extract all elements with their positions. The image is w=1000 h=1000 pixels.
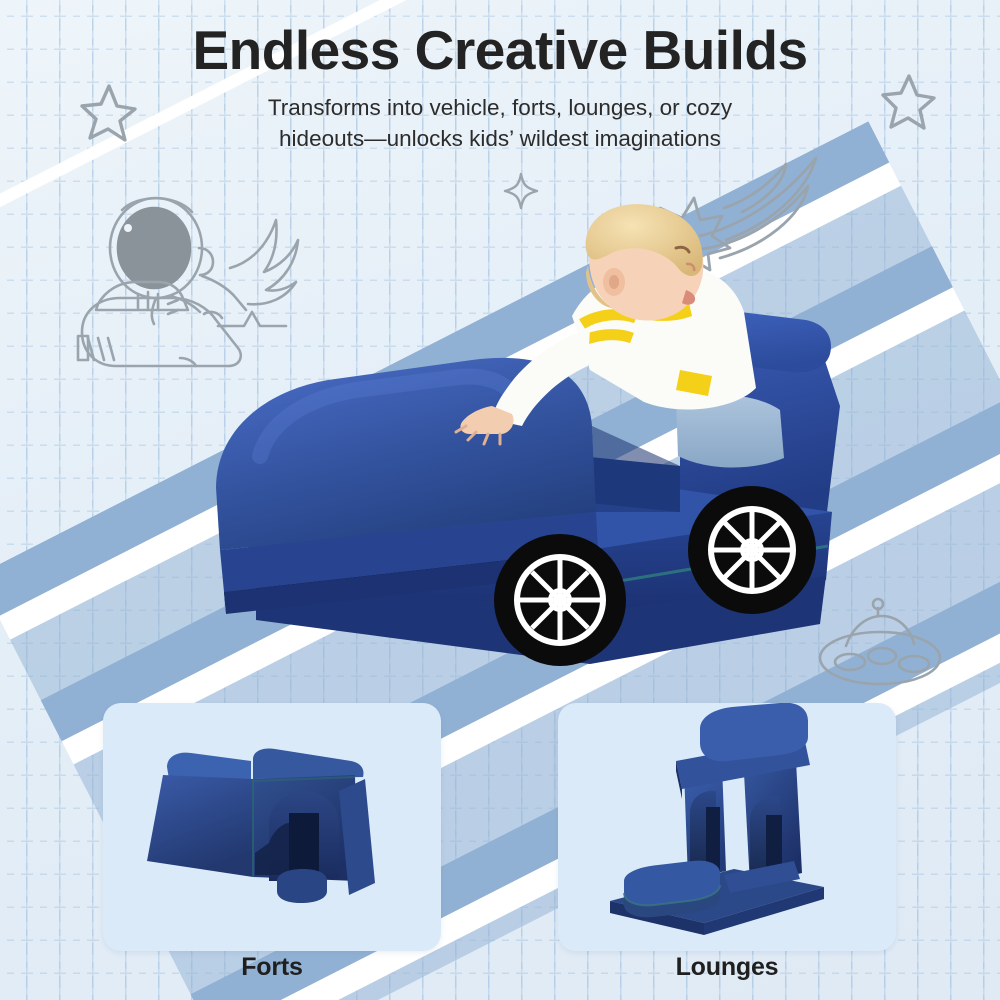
promo-image-root: Endless Creative Builds Transforms into … (0, 0, 1000, 1000)
hero-product-image (120, 220, 880, 690)
card-label-lounges: Lounges (558, 953, 896, 982)
wheel-front (688, 486, 816, 614)
card-lounges[interactable] (558, 703, 896, 951)
subtitle-line-2: hideouts—unlocks kids’ wildest imaginati… (279, 126, 721, 151)
card-label-forts: Forts (103, 953, 441, 982)
card-forts[interactable] (103, 703, 441, 951)
wheel-rear (494, 534, 626, 666)
lounge-build-photo (558, 703, 896, 951)
star-doodle-left (78, 82, 138, 144)
child-figure (456, 204, 784, 467)
fort-build-photo (103, 703, 441, 951)
subtitle-line-1: Transforms into vehicle, forts, lounges,… (268, 95, 732, 120)
sparkle-doodle (503, 172, 539, 210)
star-doodle-right (879, 72, 937, 132)
page-title: Endless Creative Builds (0, 22, 1000, 80)
page-subtitle: Transforms into vehicle, forts, lounges,… (190, 92, 810, 154)
